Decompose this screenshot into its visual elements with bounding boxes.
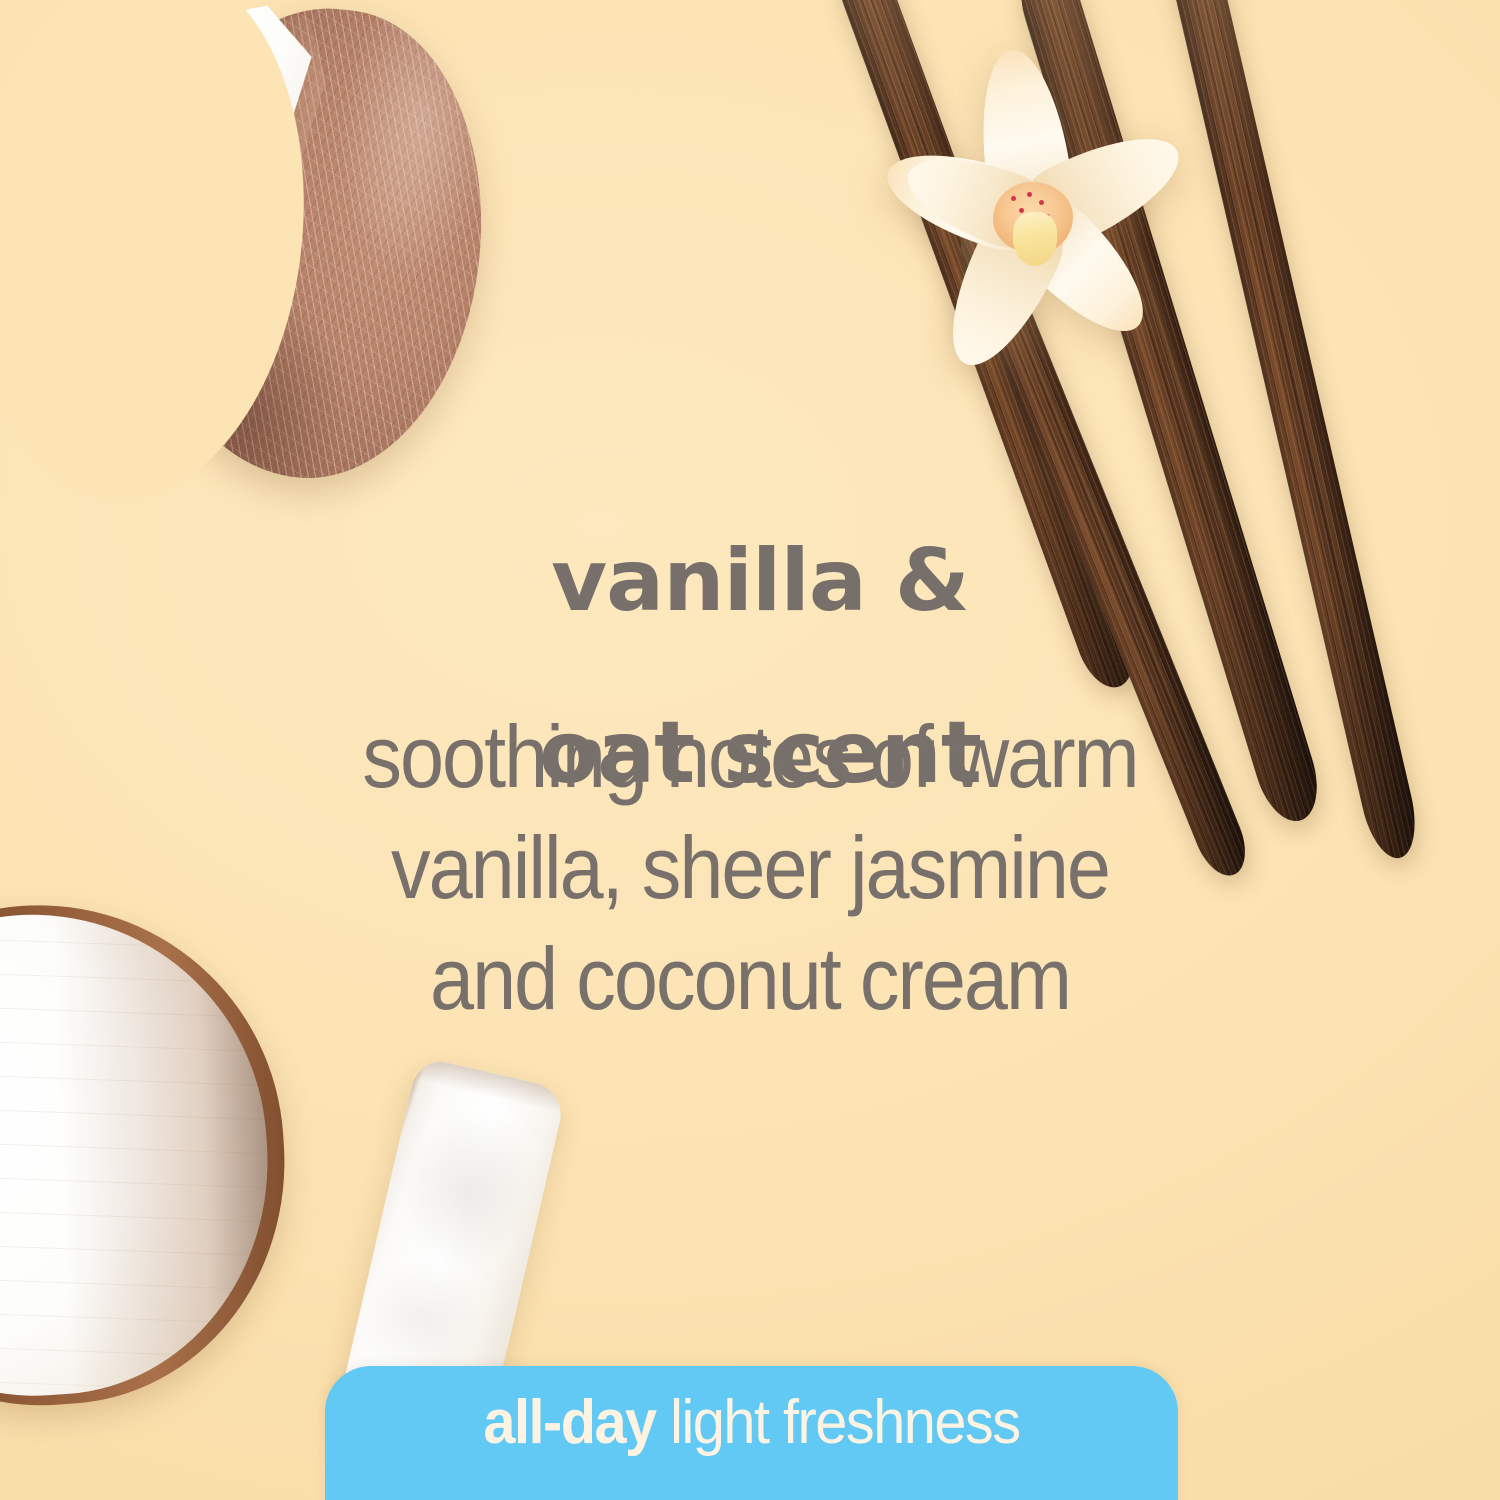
freshness-banner-text: all-day light freshness — [355, 1392, 1148, 1454]
flower-speck — [1011, 196, 1016, 201]
product-scent-callout-image: vanilla & oat scent soothing notes of wa… — [0, 0, 1500, 1500]
freshness-banner: all-day light freshness — [325, 1366, 1178, 1500]
flower-speck — [1039, 200, 1044, 205]
description-line-3: and coconut cream — [75, 924, 1425, 1035]
banner-bold-label: all-day — [483, 1388, 655, 1457]
headline-line-1: vanilla & — [0, 538, 1500, 624]
description-line-1: soothing notes of warm — [75, 702, 1425, 813]
flower-speck — [1027, 192, 1032, 197]
description-line-2: vanilla, sheer jasmine — [75, 813, 1425, 924]
banner-regular-label: light freshness — [656, 1388, 1020, 1457]
flower-column — [1013, 212, 1057, 266]
scent-description: soothing notes of warm vanilla, sheer ja… — [75, 702, 1425, 1035]
coconut-crescent-icon — [126, 0, 503, 494]
vanilla-flower-icon — [880, 70, 1190, 370]
flower-speck — [1019, 208, 1024, 213]
